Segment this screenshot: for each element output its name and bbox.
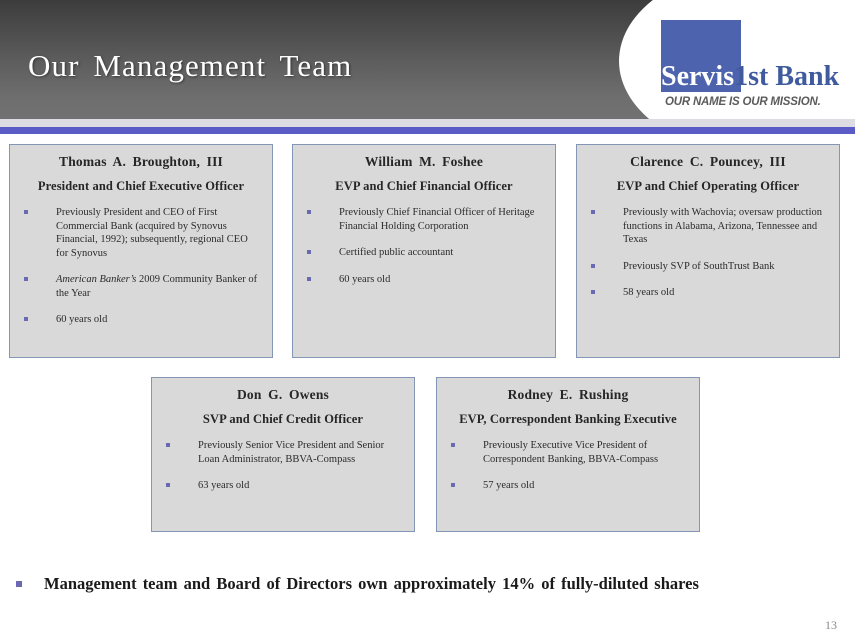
list-item: Certified public accountant: [293, 246, 555, 260]
list-item: 60 years old: [293, 273, 555, 287]
bullet-square-icon: [591, 264, 595, 268]
list-item: Previously SVP of SouthTrust Bank: [577, 260, 839, 274]
executive-bullet-list: Previously Chief Financial Officer of He…: [293, 206, 555, 286]
logo-wordmark: Servis1st Bank: [661, 60, 851, 94]
executive-bullet-list: Previously President and CEO of First Co…: [10, 206, 272, 327]
executive-card-pouncey: Clarence C. Pouncey, III EVP and Chief O…: [576, 144, 840, 358]
list-item: 60 years old: [10, 313, 272, 327]
list-item: Previously President and CEO of First Co…: [10, 206, 272, 260]
bullet-square-icon: [24, 210, 28, 214]
logo-tagline: OUR NAME IS OUR MISSION.: [665, 96, 821, 108]
executive-role: EVP, Correspondent Banking Executive: [437, 412, 699, 427]
page-number: 13: [825, 618, 837, 633]
bullet-square-icon: [24, 317, 28, 321]
executive-name: Rodney E. Rushing: [437, 387, 699, 403]
bullet-square-icon: [307, 250, 311, 254]
executive-role: EVP and Chief Operating Officer: [577, 179, 839, 194]
bullet-square-icon: [24, 277, 28, 281]
list-item: American Banker’s 2009 Community Banker …: [10, 273, 272, 300]
bullet-text: 60 years old: [339, 274, 390, 285]
list-item: Previously Chief Financial Officer of He…: [293, 206, 555, 233]
page-title: Our Management Team: [28, 48, 352, 84]
logo-1st-bank-text: 1st Bank: [734, 61, 839, 92]
logo-servis-text: Servis: [661, 61, 734, 92]
executive-role: President and Chief Executive Officer: [10, 179, 272, 194]
bullet-text: Previously Executive Vice President of C…: [483, 440, 658, 465]
executive-role: SVP and Chief Credit Officer: [152, 412, 414, 427]
bullet-text: 57 years old: [483, 480, 534, 491]
list-item: Previously Senior Vice President and Sen…: [152, 439, 414, 466]
header-accent-bar: [0, 127, 855, 134]
servisfirst-bank-logo: Servis1st Bank OUR NAME IS OUR MISSION.: [653, 14, 853, 114]
bullet-text: Previously President and CEO of First Co…: [56, 207, 248, 259]
list-item: 63 years old: [152, 479, 414, 493]
bullet-square-icon: [166, 483, 170, 487]
executive-card-foshee: William M. Foshee EVP and Chief Financia…: [292, 144, 556, 358]
executive-name: Don G. Owens: [152, 387, 414, 403]
executive-card-rushing: Rodney E. Rushing EVP, Correspondent Ban…: [436, 377, 700, 532]
executive-name: Clarence C. Pouncey, III: [577, 154, 839, 170]
list-item: 58 years old: [577, 286, 839, 300]
executive-card-broughton: Thomas A. Broughton, III President and C…: [9, 144, 273, 358]
executive-card-owens: Don G. Owens SVP and Chief Credit Office…: [151, 377, 415, 532]
bullet-text: Previously Chief Financial Officer of He…: [339, 207, 534, 232]
footer-bullet-line: Management team and Board of Directors o…: [14, 572, 849, 598]
bullet-text: Certified public accountant: [339, 247, 453, 258]
bullet-text: 63 years old: [198, 480, 249, 491]
bullet-text: Previously SVP of SouthTrust Bank: [623, 261, 775, 272]
bullet-square-icon: [451, 483, 455, 487]
bullet-text: 58 years old: [623, 287, 674, 298]
executive-name: William M. Foshee: [293, 154, 555, 170]
bullet-square-icon: [591, 210, 595, 214]
executive-bullet-list: Previously Executive Vice President of C…: [437, 439, 699, 493]
bullet-text-italic: American Banker’s: [56, 274, 136, 285]
list-item: 57 years old: [437, 479, 699, 493]
executive-name: Thomas A. Broughton, III: [10, 154, 272, 170]
executive-bullet-list: Previously with Wachovia; oversaw produc…: [577, 206, 839, 300]
bullet-text: Previously with Wachovia; oversaw produc…: [623, 207, 822, 245]
executive-role: EVP and Chief Financial Officer: [293, 179, 555, 194]
bullet-text: Previously Senior Vice President and Sen…: [198, 440, 384, 465]
bullet-square-icon: [307, 277, 311, 281]
footer-bullet-text: Management team and Board of Directors o…: [44, 572, 699, 596]
bullet-square-icon: [166, 443, 170, 447]
bullet-square-icon: [307, 210, 311, 214]
bullet-square-icon: [591, 290, 595, 294]
bullet-text: 60 years old: [56, 314, 107, 325]
list-item: Previously with Wachovia; oversaw produc…: [577, 206, 839, 247]
executive-bullet-list: Previously Senior Vice President and Sen…: [152, 439, 414, 493]
list-item: Previously Executive Vice President of C…: [437, 439, 699, 466]
bullet-square-icon: [16, 581, 22, 587]
bullet-square-icon: [451, 443, 455, 447]
header-light-band: [0, 119, 855, 127]
